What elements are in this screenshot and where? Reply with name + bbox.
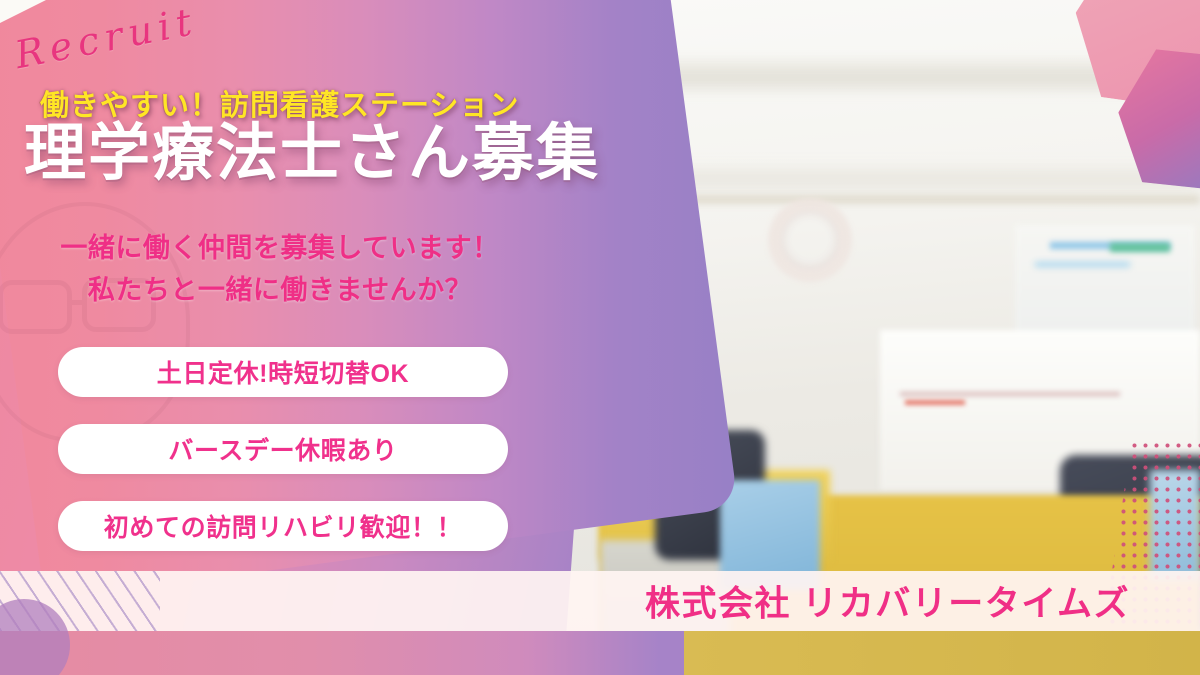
company-name: 株式会社 リカバリータイムズ — [645, 576, 1130, 627]
benefit-label: バースデー休暇あり — [168, 431, 397, 467]
message-line-1: 一緒に働く仲間を募集しています！ — [0, 228, 560, 270]
message-line-2: 私たちと一緒に働きませんか？ — [0, 270, 560, 312]
benefit-label: 土日定休!時短切替OK — [157, 354, 409, 390]
benefit-pill-3: 初めての訪問リハビリ歓迎！！ — [58, 501, 508, 551]
benefit-pill-2: バースデー休暇あり — [58, 424, 508, 474]
benefit-label: 初めての訪問リハビリ歓迎！！ — [104, 508, 462, 544]
benefit-pill-1: 土日定休!時短切替OK — [58, 347, 508, 397]
bottom-color-strip — [0, 631, 1200, 675]
subheading: 働きやすい！訪問看護ステーション — [40, 82, 510, 124]
benefits-list: 土日定休!時短切替OK バースデー休暇あり 初めての訪問リハビリ歓迎！！ — [58, 347, 508, 578]
page-title: 理学療法士さん募集 — [24, 122, 584, 185]
recruitment-message: 一緒に働く仲間を募集しています！ 私たちと一緒に働きませんか？ — [0, 228, 560, 312]
company-bar: 株式会社 リカバリータイムズ — [0, 571, 1200, 631]
recruitment-banner: Recruit 働きやすい！訪問看護ステーション 理学療法士さん募集 一緒に働く… — [0, 0, 1200, 675]
